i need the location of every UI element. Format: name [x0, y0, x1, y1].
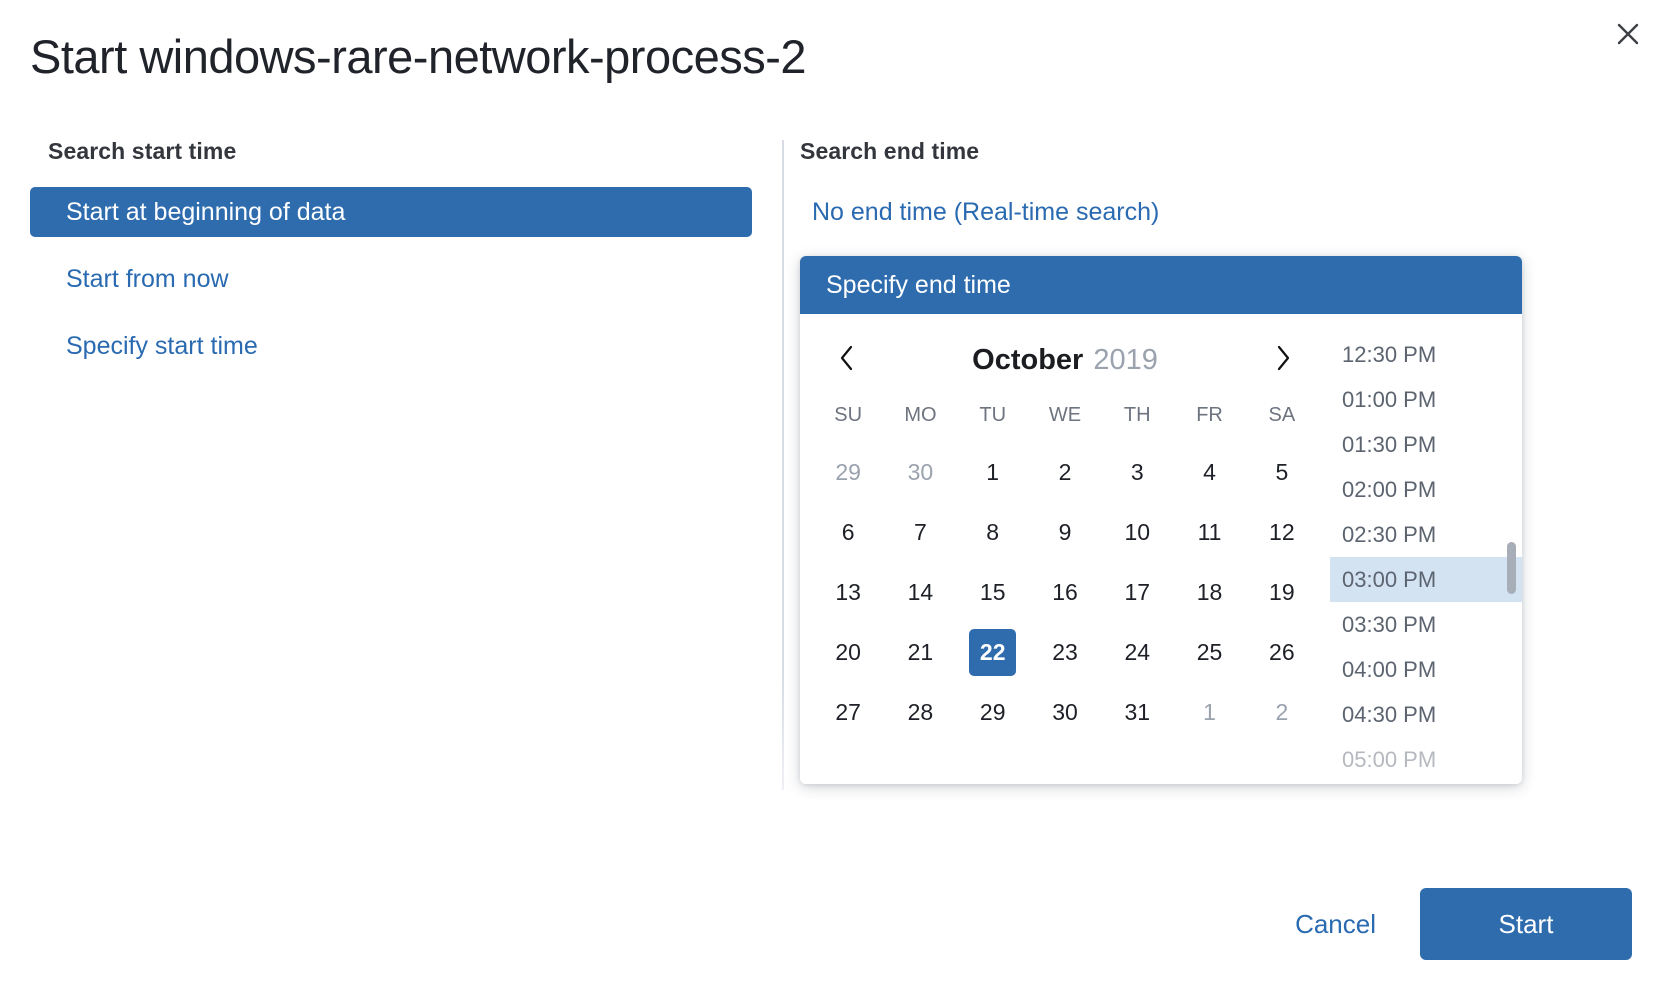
calendar-day-cell[interactable]: 30 [1029, 682, 1101, 742]
calendar-day-cell[interactable]: 29 [957, 682, 1029, 742]
prev-month-button[interactable] [830, 343, 864, 377]
option-label: Start from now [66, 265, 229, 294]
close-icon [1615, 21, 1641, 47]
calendar-day-cell[interactable]: 24 [1101, 622, 1173, 682]
calendar-day-label: 29 [825, 449, 872, 496]
calendar-day-cell[interactable]: 16 [1029, 562, 1101, 622]
calendar-day-cell[interactable]: 1 [957, 442, 1029, 502]
start-search-dialog: Start windows-rare-network-process-2 Sea… [0, 0, 1666, 994]
calendar-grid: SU MO TU WE TH FR SA 2930123456789101112… [812, 388, 1318, 742]
calendar-day-label: 11 [1186, 509, 1233, 556]
calendar-day-cell[interactable]: 4 [1173, 442, 1245, 502]
search-start-time-panel: Search start time Start at beginning of … [30, 138, 782, 371]
dialog-footer: Cancel Start [0, 888, 1666, 960]
calendar-day-label: 2 [1258, 689, 1305, 736]
calendar-day-label: 24 [1114, 629, 1161, 676]
end-time-option-list: No end time (Real-time search) [782, 187, 1666, 237]
calendar-day-cell[interactable]: 25 [1173, 622, 1245, 682]
calendar-day-cell[interactable]: 21 [884, 622, 956, 682]
calendar-day-cell[interactable]: 15 [957, 562, 1029, 622]
calendar-day-label: 13 [825, 569, 872, 616]
option-label: Specify end time [826, 271, 1011, 300]
cancel-button[interactable]: Cancel [1273, 895, 1398, 954]
time-list-item[interactable]: 03:30 PM [1330, 602, 1522, 647]
calendar-day-label: 9 [1041, 509, 1088, 556]
calendar-day-cell[interactable]: 1 [1173, 682, 1245, 742]
calendar-title: October2019 [972, 344, 1158, 377]
calendar: October2019 [800, 314, 1330, 784]
search-end-time-panel: Search end time No end time (Real-time s… [782, 138, 1666, 237]
calendar-day-label: 25 [1186, 629, 1233, 676]
option-start-at-beginning-of-data[interactable]: Start at beginning of data [30, 187, 752, 237]
calendar-day-cell[interactable]: 18 [1173, 562, 1245, 622]
calendar-day-label: 26 [1258, 629, 1305, 676]
option-label: Specify start time [66, 332, 258, 361]
calendar-day-label: 21 [897, 629, 944, 676]
calendar-day-cell[interactable]: 9 [1029, 502, 1101, 562]
calendar-day-cell[interactable]: 3 [1101, 442, 1173, 502]
time-list-item[interactable]: 04:00 PM [1330, 647, 1522, 692]
calendar-day-cell[interactable]: 20 [812, 622, 884, 682]
spacer [30, 237, 782, 254]
calendar-week-row: 6789101112 [812, 502, 1318, 562]
time-list[interactable]: 12:30 PM01:00 PM01:30 PM02:00 PM02:30 PM… [1330, 314, 1522, 784]
calendar-day-label: 6 [825, 509, 872, 556]
calendar-day-label: 16 [1041, 569, 1088, 616]
calendar-day-cell[interactable]: 22 [957, 622, 1029, 682]
calendar-day-label: 18 [1186, 569, 1233, 616]
calendar-day-label: 30 [897, 449, 944, 496]
page-title: Start windows-rare-network-process-2 [30, 30, 806, 84]
option-specify-end-time[interactable]: Specify end time [800, 256, 1522, 314]
time-list-item[interactable]: 02:30 PM [1330, 512, 1522, 557]
calendar-day-label: 3 [1114, 449, 1161, 496]
calendar-week-row: 272829303112 [812, 682, 1318, 742]
calendar-day-cell[interactable]: 13 [812, 562, 884, 622]
calendar-day-cell[interactable]: 5 [1246, 442, 1318, 502]
calendar-week-row: 13141516171819 [812, 562, 1318, 622]
calendar-day-label: 23 [1041, 629, 1088, 676]
calendar-day-label: 27 [825, 689, 872, 736]
calendar-day-cell[interactable]: 11 [1173, 502, 1245, 562]
calendar-day-cell[interactable]: 30 [884, 442, 956, 502]
weekday-header-row: SU MO TU WE TH FR SA [812, 388, 1318, 442]
calendar-week-row: 293012345 [812, 442, 1318, 502]
search-start-time-heading: Search start time [48, 138, 782, 165]
datepicker-body: October2019 [800, 314, 1522, 784]
calendar-week-row: 20212223242526 [812, 622, 1318, 682]
option-start-from-now[interactable]: Start from now [30, 254, 752, 304]
calendar-month: October [972, 344, 1083, 376]
calendar-day-cell[interactable]: 6 [812, 502, 884, 562]
calendar-day-label: 1 [1186, 689, 1233, 736]
chevron-right-icon [1273, 343, 1293, 378]
end-time-datepicker-popup: Specify end time [800, 256, 1522, 784]
calendar-day-label: 28 [897, 689, 944, 736]
next-month-button[interactable] [1266, 343, 1300, 377]
calendar-day-label: 15 [969, 569, 1016, 616]
time-list-item[interactable]: 05:00 PM [1330, 737, 1522, 782]
time-list-item[interactable]: 03:00 PM [1330, 557, 1522, 602]
calendar-day-label: 2 [1041, 449, 1088, 496]
calendar-day-label: 7 [897, 509, 944, 556]
calendar-day-label: 12 [1258, 509, 1305, 556]
calendar-day-label: 19 [1258, 569, 1305, 616]
option-no-end-time[interactable]: No end time (Real-time search) [782, 187, 1504, 237]
option-specify-start-time[interactable]: Specify start time [30, 321, 752, 371]
calendar-day-cell[interactable]: 31 [1101, 682, 1173, 742]
start-time-option-list: Start at beginning of data Start from no… [30, 187, 782, 371]
weekday-header: SU [812, 388, 884, 442]
calendar-day-cell[interactable]: 17 [1101, 562, 1173, 622]
weekday-header: TH [1101, 388, 1173, 442]
calendar-day-cell[interactable]: 28 [884, 682, 956, 742]
calendar-day-label: 20 [825, 629, 872, 676]
time-list-item[interactable]: 12:30 PM [1330, 332, 1522, 377]
calendar-day-label: 17 [1114, 569, 1161, 616]
calendar-day-label: 14 [897, 569, 944, 616]
close-button[interactable] [1608, 14, 1648, 54]
calendar-day-label: 1 [969, 449, 1016, 496]
option-label: Start at beginning of data [66, 198, 345, 227]
time-list-item[interactable]: 04:30 PM [1330, 692, 1522, 737]
calendar-day-label: 5 [1258, 449, 1305, 496]
column-divider [782, 140, 784, 790]
time-list-item[interactable]: 02:00 PM [1330, 467, 1522, 512]
chevron-left-icon [837, 343, 857, 378]
calendar-day-cell[interactable]: 12 [1246, 502, 1318, 562]
time-range-columns: Search start time Start at beginning of … [0, 138, 1666, 798]
start-button[interactable]: Start [1420, 888, 1632, 960]
spacer [30, 304, 782, 321]
calendar-nav: October2019 [812, 332, 1318, 388]
calendar-day-label: 29 [969, 689, 1016, 736]
calendar-year: 2019 [1093, 344, 1158, 376]
weekday-header: WE [1029, 388, 1101, 442]
weekday-header: SA [1246, 388, 1318, 442]
calendar-day-label: 10 [1114, 509, 1161, 556]
calendar-day-cell[interactable]: 19 [1246, 562, 1318, 622]
calendar-day-cell[interactable]: 26 [1246, 622, 1318, 682]
weekday-header: FR [1173, 388, 1245, 442]
weekday-header: TU [957, 388, 1029, 442]
calendar-day-cell[interactable]: 10 [1101, 502, 1173, 562]
calendar-day-label: 22 [969, 629, 1016, 676]
calendar-day-cell[interactable]: 23 [1029, 622, 1101, 682]
calendar-day-cell[interactable]: 2 [1246, 682, 1318, 742]
calendar-day-cell[interactable]: 8 [957, 502, 1029, 562]
calendar-day-label: 30 [1041, 689, 1088, 736]
calendar-day-cell[interactable]: 2 [1029, 442, 1101, 502]
calendar-day-cell[interactable]: 29 [812, 442, 884, 502]
calendar-day-label: 31 [1114, 689, 1161, 736]
search-end-time-heading: Search end time [800, 138, 1666, 165]
time-list-item[interactable]: 01:00 PM [1330, 377, 1522, 422]
calendar-day-cell[interactable]: 27 [812, 682, 884, 742]
time-list-item[interactable]: 01:30 PM [1330, 422, 1522, 467]
option-label: No end time (Real-time search) [812, 198, 1159, 227]
calendar-day-label: 4 [1186, 449, 1233, 496]
calendar-day-label: 8 [969, 509, 1016, 556]
calendar-day-cell[interactable]: 14 [884, 562, 956, 622]
time-list-scrollbar[interactable] [1507, 542, 1516, 594]
calendar-day-cell[interactable]: 7 [884, 502, 956, 562]
weekday-header: MO [884, 388, 956, 442]
